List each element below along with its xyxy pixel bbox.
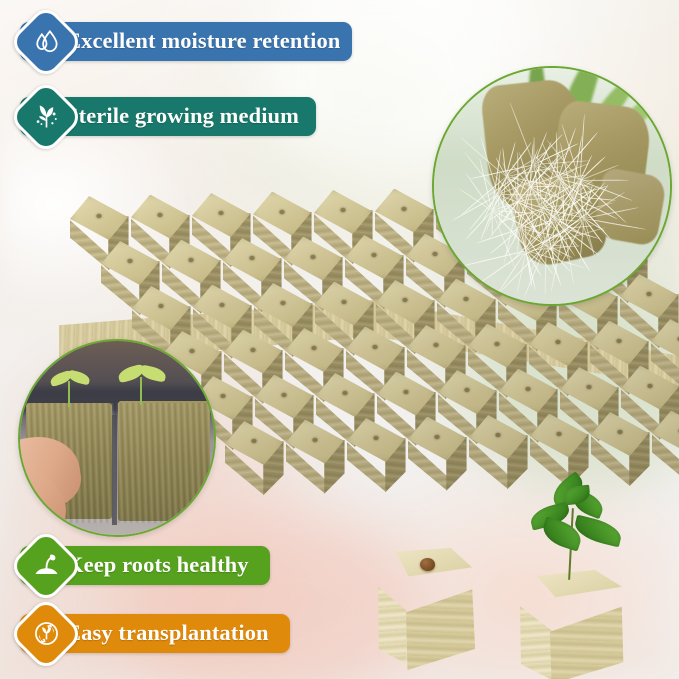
seed-hole — [219, 211, 224, 215]
seed-hole — [158, 213, 163, 217]
cube-top-face — [376, 548, 472, 594]
seed-hole — [97, 214, 102, 218]
seedling-plant — [512, 478, 642, 598]
sterile-sprout-icon — [19, 90, 73, 144]
seed-hole — [617, 339, 622, 343]
root-fiber — [544, 245, 546, 296]
seedling-stem — [68, 381, 70, 407]
seed-hole — [404, 390, 409, 394]
rockwool-cube — [408, 417, 466, 491]
detail-cube-with-seed — [368, 548, 480, 670]
seed-hole — [189, 258, 194, 262]
roots-photo — [434, 68, 670, 304]
seed-hole — [648, 384, 653, 388]
seed-hole — [373, 345, 378, 349]
seed-hole — [251, 348, 256, 352]
badge-label: Excellent moisture retention — [66, 30, 340, 53]
seed-hole — [250, 256, 255, 260]
seed-hole — [343, 391, 348, 395]
seed-hole — [435, 435, 440, 439]
water-drops-icon — [19, 15, 73, 69]
root-fibers — [434, 68, 670, 304]
rockwool-cube — [286, 420, 344, 494]
seed-hole — [526, 387, 531, 391]
seedling-stem — [140, 377, 142, 405]
slab-gap — [112, 415, 117, 525]
seedlings-photo — [20, 341, 214, 535]
cube-right-face — [550, 594, 628, 679]
inset-photo-roots — [432, 66, 672, 306]
seed-hole — [402, 207, 407, 211]
seed-hole — [372, 253, 377, 257]
seed — [420, 558, 435, 571]
seed-hole — [313, 438, 318, 442]
seed-hole — [495, 342, 500, 346]
seed-hole — [403, 298, 408, 302]
rockwool-cube — [347, 418, 405, 492]
sprout-mound-icon — [19, 539, 73, 593]
seed-hole — [342, 300, 347, 304]
sprout-mound-glyph — [33, 552, 60, 579]
seed-hole — [587, 385, 592, 389]
seed-hole — [280, 210, 285, 214]
badge-moisture-retention[interactable]: Excellent moisture retention — [20, 22, 352, 61]
seed-hole — [220, 303, 225, 307]
seed-hole — [557, 432, 562, 436]
transplant-cycle-icon — [19, 607, 73, 661]
seed-hole — [465, 388, 470, 392]
seed-hole — [128, 259, 133, 263]
seed-hole — [341, 208, 346, 212]
cube-right-face — [406, 574, 478, 670]
product-image-stage: Excellent moisture retention Sterile gro… — [0, 0, 679, 679]
transplant-cycle-glyph — [33, 620, 60, 647]
seed-hole — [374, 436, 379, 440]
water-drops-glyph — [33, 28, 60, 55]
seed-hole — [618, 430, 623, 434]
seed-hole — [221, 394, 226, 398]
sterile-sprout-glyph — [33, 103, 60, 130]
seed-hole — [496, 433, 501, 437]
badge-keep-roots-healthy[interactable]: Keep roots healthy — [20, 546, 270, 585]
badge-label: Keep roots healthy — [66, 554, 249, 577]
seed-hole — [312, 346, 317, 350]
rockwool-cube — [225, 421, 283, 495]
badge-label: Sterile growing medium — [66, 105, 299, 128]
seed-hole — [252, 439, 257, 443]
seed-hole — [434, 343, 439, 347]
badge-easy-transplantation[interactable]: Easy transplantation — [20, 614, 290, 653]
badge-label: Easy transplantation — [66, 622, 269, 645]
seed-hole — [556, 340, 561, 344]
badge-sterile-medium[interactable]: Sterile growing medium — [20, 97, 316, 136]
rockwool-cube — [652, 411, 679, 485]
rockwool-cube — [591, 412, 649, 486]
root-fiber — [491, 211, 492, 236]
seed-hole — [159, 304, 164, 308]
seed-hole — [281, 301, 286, 305]
inset-photo-seedlings — [18, 339, 216, 537]
root-fiber — [463, 250, 527, 266]
seed-hole — [311, 255, 316, 259]
seed-hole — [282, 393, 287, 397]
